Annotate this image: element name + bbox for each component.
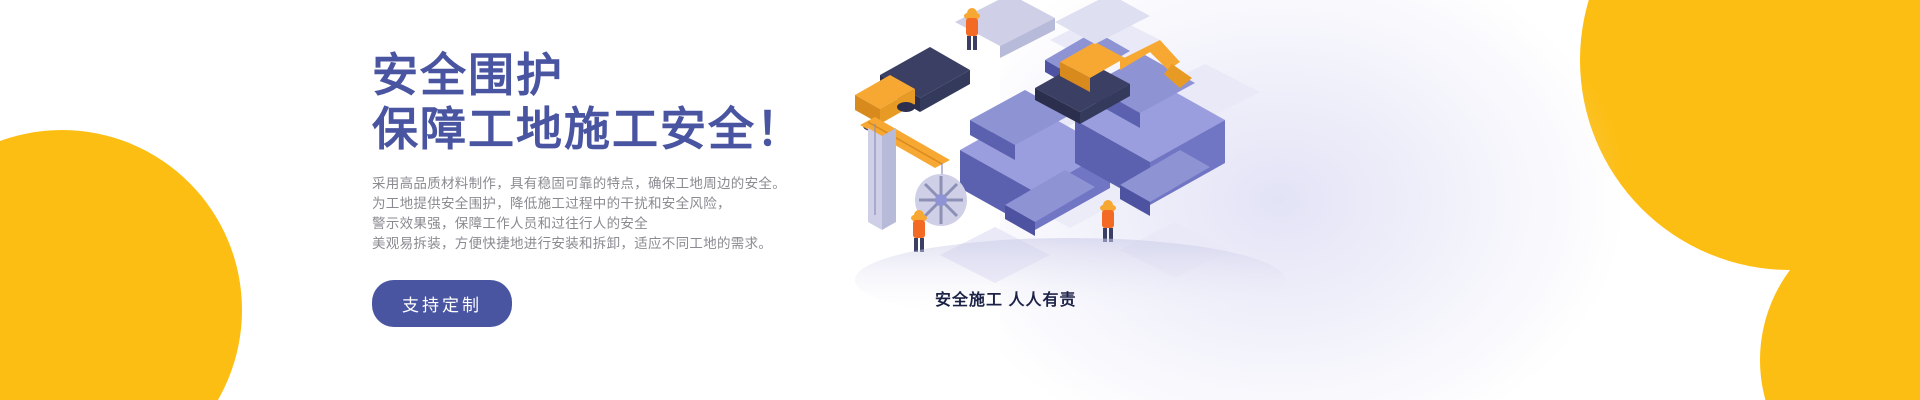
worker-figure-top: [964, 8, 980, 50]
decorative-circle-left: [0, 130, 242, 400]
description-line-3: 警示效果强，保障工作人员和过往行人的安全: [372, 214, 802, 234]
worker-figure-right: [1100, 200, 1116, 242]
banner-description: 采用高品质材料制作，具有稳固可靠的特点，确保工地周边的安全。 为工地提供安全围护…: [372, 174, 802, 254]
crane-icon: [860, 117, 967, 230]
description-line-4: 美观易拆装，方便快捷地进行安装和拆卸，适应不同工地的需求。: [372, 234, 802, 254]
banner-headline: 安全围护 保障工地施工安全！: [372, 48, 802, 156]
illustration-caption: 安全施工 人人有责: [935, 286, 1076, 310]
headline-line-2: 保障工地施工安全！: [372, 102, 802, 156]
description-line-1: 采用高品质材料制作，具有稳固可靠的特点，确保工地周边的安全。: [372, 174, 802, 194]
worker-figure-left: [911, 210, 927, 252]
customization-cta-button[interactable]: 支持定制: [372, 280, 512, 327]
headline-line-1: 安全围护: [372, 49, 564, 101]
promo-banner: 安全围护 保障工地施工安全！ 采用高品质材料制作，具有稳固可靠的特点，确保工地周…: [0, 0, 1920, 400]
banner-copy: 安全围护 保障工地施工安全！ 采用高品质材料制作，具有稳固可靠的特点，确保工地周…: [372, 48, 802, 327]
construction-illustration: [820, 0, 1440, 400]
description-line-2: 为工地提供安全围护，降低施工过程中的干扰和安全风险，: [372, 194, 802, 214]
dump-truck-icon: [855, 47, 970, 131]
